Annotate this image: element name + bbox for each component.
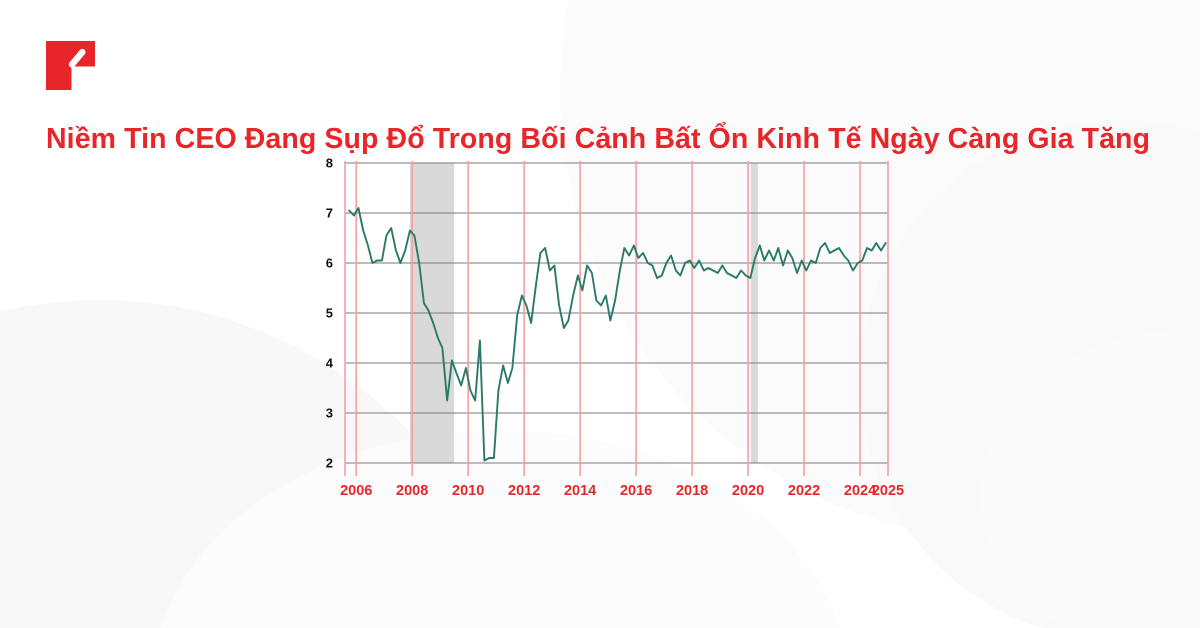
- page-title: Niềm Tin CEO Đang Sụp Đổ Trong Bối Cảnh …: [46, 121, 1176, 157]
- x-axis-tick-label: 2006: [340, 483, 372, 499]
- background-blob: [980, 330, 1200, 628]
- y-axis-tick-label: 5: [326, 306, 333, 321]
- x-axis-tick-label: 2008: [396, 483, 428, 499]
- chart-canvas: 2345678 20062008201020122014201620182020…: [300, 150, 920, 500]
- y-axis-tick-label: 7: [326, 206, 333, 221]
- y-axis-tick-label: 4: [326, 356, 334, 371]
- x-axis-tick-label: 2010: [452, 483, 484, 499]
- y-axis-tick-label: 2: [326, 456, 333, 471]
- x-axis-tick-label: 2012: [508, 483, 540, 499]
- x-axis-tick-label: 2020: [732, 483, 764, 499]
- x-axis-tick-label: 2025: [872, 483, 904, 499]
- y-axis-tick-label: 8: [326, 156, 333, 171]
- x-axis-tick-label: 2014: [564, 483, 596, 499]
- x-axis-tick-label-group: 2006200820102012201420162018202020222024…: [340, 483, 904, 499]
- line-chart: 2345678 20062008201020122014201620182020…: [300, 150, 920, 500]
- x-axis-tick-label: 2016: [620, 483, 652, 499]
- y-axis-tick-label-group: 2345678: [326, 156, 334, 471]
- x-axis-tick-label: 2018: [676, 483, 708, 499]
- y-axis-tick-label: 3: [326, 406, 333, 421]
- document-pen-logo-icon: [46, 41, 95, 90]
- y-axis-tick-label: 6: [326, 256, 333, 271]
- x-axis-tick-label: 2022: [788, 483, 820, 499]
